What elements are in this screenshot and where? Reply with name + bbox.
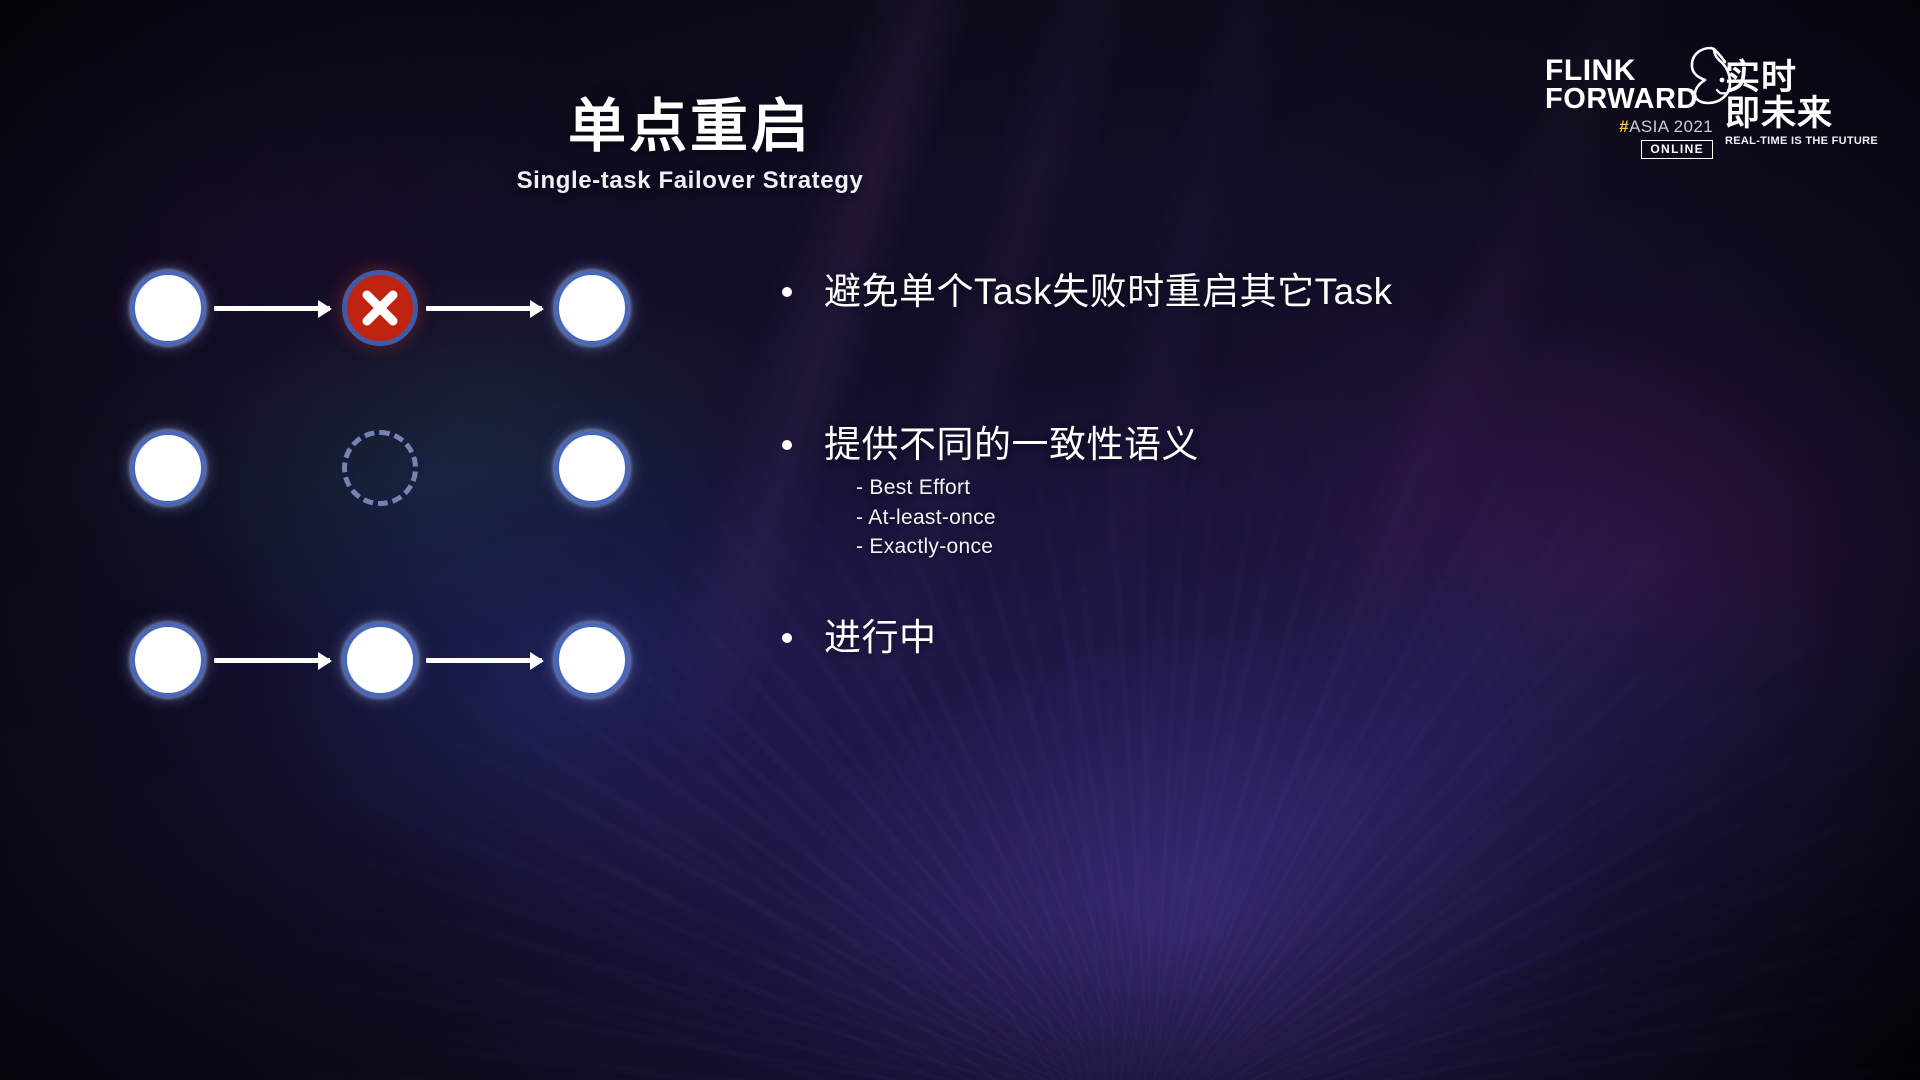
task-node-healthy [130, 430, 206, 506]
logo-tagline: REAL-TIME IS THE FUTURE [1725, 135, 1878, 147]
dataflow-arrow [214, 658, 330, 663]
list-item: 避免单个Task失败时重启其它Task [782, 268, 1842, 315]
bullet-list: 避免单个Task失败时重启其它Task 提供不同的一致性语义 - Best Ef… [782, 268, 1842, 662]
list-item: 提供不同的一致性语义 [782, 421, 1842, 468]
logo-cn-line2: 即未来 [1725, 96, 1878, 132]
logo-asia-year: ASIA 2021 [1629, 117, 1713, 136]
sub-list-item: - Exactly-once [856, 532, 1842, 562]
bullet-group: 进行中 [782, 614, 1842, 661]
list-item: 进行中 [782, 614, 1842, 661]
squirrel-icon [1681, 44, 1741, 106]
presentation-slide: 单点重启 Single-task Failover Strategy FLINK… [0, 0, 1920, 1080]
task-node-healthy [554, 622, 630, 698]
bullet-dot-icon [782, 633, 792, 643]
diagram-row-isolated-state [130, 430, 650, 510]
failover-diagram [130, 250, 650, 710]
bullet-label: 避免单个Task失败时重启其它Task [824, 268, 1393, 315]
diagram-row-failure-state [130, 270, 650, 350]
logo-asia-row: #ASIA 2021 [1545, 117, 1713, 137]
logo-online-badge: ONLINE [1641, 140, 1713, 159]
task-node-failed [342, 270, 418, 346]
failure-x-icon [347, 275, 413, 341]
logo-cn-line1: 实时 [1725, 60, 1878, 96]
dataflow-arrow [426, 658, 542, 663]
task-node-healthy [130, 270, 206, 346]
diagram-row-recovered-state [130, 622, 650, 702]
dataflow-arrow [214, 306, 330, 311]
bullet-group: 避免单个Task失败时重启其它Task [782, 268, 1842, 315]
logo-wordmark: FLINK FORWARD #ASIA 2021 ONLINE [1545, 56, 1713, 159]
bullet-dot-icon [782, 440, 792, 450]
logo-hash-symbol: # [1619, 117, 1629, 136]
sub-list-item: - At-least-once [856, 503, 1842, 533]
task-node-healthy [130, 622, 206, 698]
task-node-healthy [554, 430, 630, 506]
bullet-sub-list: - Best Effort - At-least-once - Exactly-… [856, 473, 1842, 562]
bullet-group: 提供不同的一致性语义 - Best Effort - At-least-once… [782, 421, 1842, 562]
logo-online-wrap: ONLINE [1545, 140, 1713, 159]
flink-forward-logo: FLINK FORWARD #ASIA 2021 ONLINE 实时 即未来 R… [1545, 56, 1878, 159]
task-node-healthy [342, 622, 418, 698]
sub-list-item: - Best Effort [856, 473, 1842, 503]
bullet-label: 进行中 [824, 614, 937, 661]
bullet-dot-icon [782, 287, 792, 297]
logo-chinese-block: 实时 即未来 REAL-TIME IS THE FUTURE [1725, 56, 1878, 147]
bullet-label: 提供不同的一致性语义 [824, 421, 1199, 468]
dataflow-arrow [426, 306, 542, 311]
task-node-healthy [554, 270, 630, 346]
task-node-restarting [342, 430, 418, 506]
